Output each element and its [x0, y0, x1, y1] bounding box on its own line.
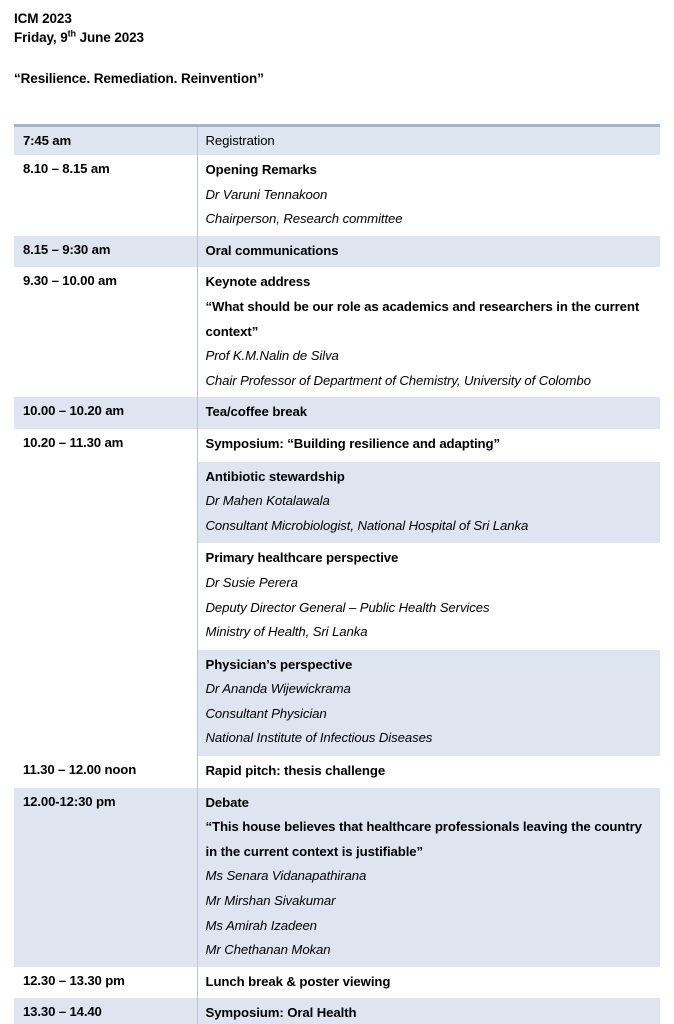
- schedule-detail-cell: Registration: [197, 126, 660, 156]
- schedule-row: 11.30 – 12.00 noonRapid pitch: thesis ch…: [14, 756, 660, 788]
- schedule-detail-cell: Opening RemarksDr Varuni TennakoonChairp…: [197, 155, 660, 236]
- schedule-line: Deputy Director General – Public Health …: [206, 596, 653, 621]
- schedule-time-cell: 9.30 – 10.00 am: [14, 267, 197, 397]
- schedule-line: Dr Varuni Tennakoon: [206, 183, 653, 208]
- schedule-time-cell: 11.30 – 12.00 noon: [14, 756, 197, 788]
- schedule-time-cell: 7:45 am: [14, 126, 197, 156]
- schedule-time-cell: 10.00 – 10.20 am: [14, 397, 197, 429]
- schedule-line: Mr Mirshan Sivakumar: [206, 889, 653, 914]
- schedule-line: Primary healthcare perspective: [206, 546, 653, 571]
- schedule-detail-cell: Lunch break & poster viewing: [197, 967, 660, 999]
- schedule-detail-cell: Symposium: “Building resilience and adap…: [197, 429, 660, 756]
- schedule-body: 7:45 amRegistration8.10 – 8.15 amOpening…: [14, 126, 660, 1024]
- schedule-line: Oral communications: [206, 239, 653, 264]
- schedule-time-cell: 8.10 – 8.15 am: [14, 155, 197, 236]
- schedule-row: 8.15 – 9:30 amOral communications: [14, 236, 660, 268]
- schedule-line: Registration: [206, 130, 653, 151]
- schedule-row: 10.20 – 11.30 amSymposium: “Building res…: [14, 429, 660, 756]
- schedule-line: “This house believes that healthcare pro…: [206, 815, 653, 864]
- event-date: Friday, 9th June 2023: [14, 28, 674, 47]
- schedule-line: Dr Ananda Wijewickrama: [206, 677, 653, 702]
- schedule-subblock: Antibiotic stewardshipDr Mahen Kotalawal…: [198, 462, 661, 544]
- schedule-subblock: Symposium: “Building resilience and adap…: [198, 429, 661, 462]
- schedule-detail-cell: Symposium: Oral HealthIntroduction (5min…: [197, 998, 660, 1024]
- schedule-row: 13.30 – 14.40Symposium: Oral HealthIntro…: [14, 998, 660, 1024]
- event-tagline: “Resilience. Remediation. Reinvention”: [14, 69, 674, 88]
- schedule-line: Physician’s perspective: [206, 653, 653, 678]
- schedule-detail-cell: Rapid pitch: thesis challenge: [197, 756, 660, 788]
- schedule-line: National Institute of Infectious Disease…: [206, 726, 653, 751]
- schedule-detail-cell: Debate“This house believes that healthca…: [197, 788, 660, 967]
- schedule-line: Symposium: Oral Health: [206, 1001, 653, 1024]
- schedule-time-cell: 8.15 – 9:30 am: [14, 236, 197, 268]
- schedule-time-cell: 10.20 – 11.30 am: [14, 429, 197, 756]
- schedule-line: Rapid pitch: thesis challenge: [206, 759, 653, 784]
- schedule-detail-cell: Oral communications: [197, 236, 660, 268]
- schedule-detail-cell: Tea/coffee break: [197, 397, 660, 429]
- schedule-line: Lunch break & poster viewing: [206, 970, 653, 995]
- schedule-line: Consultant Microbiologist, National Hosp…: [206, 514, 653, 539]
- schedule-subblock: Primary healthcare perspectiveDr Susie P…: [198, 543, 661, 649]
- schedule-subblock: Physician’s perspectiveDr Ananda Wijewic…: [198, 650, 661, 756]
- event-date-ordinal: th: [68, 29, 76, 39]
- event-title: ICM 2023: [14, 9, 674, 28]
- schedule-line: Dr Susie Perera: [206, 571, 653, 596]
- schedule-line: Keynote address: [206, 270, 653, 295]
- schedule-time-cell: 12.00-12:30 pm: [14, 788, 197, 967]
- schedule-row: 8.10 – 8.15 amOpening RemarksDr Varuni T…: [14, 155, 660, 236]
- schedule-line: Dr Mahen Kotalawala: [206, 489, 653, 514]
- document-header: ICM 2023 Friday, 9th June 2023 “Resilien…: [0, 0, 674, 88]
- schedule-page: ICM 2023 Friday, 9th June 2023 “Resilien…: [0, 0, 674, 1024]
- schedule-detail-cell: Keynote address“What should be our role …: [197, 267, 660, 397]
- schedule-line: Debate: [206, 791, 653, 816]
- schedule-row: 12.00-12:30 pmDebate“This house believes…: [14, 788, 660, 967]
- schedule-row: 9.30 – 10.00 amKeynote address“What shou…: [14, 267, 660, 397]
- schedule-subblock: Symposium: Oral Health: [198, 998, 661, 1024]
- schedule-line: Chair Professor of Department of Chemist…: [206, 369, 653, 394]
- schedule-table: 7:45 amRegistration8.10 – 8.15 amOpening…: [14, 124, 660, 1024]
- schedule-line: Opening Remarks: [206, 158, 653, 183]
- schedule-line: Tea/coffee break: [206, 400, 653, 425]
- schedule-line: Ms Senara Vidanapathirana: [206, 864, 653, 889]
- schedule-line: Prof K.M.Nalin de Silva: [206, 344, 653, 369]
- schedule-line: Antibiotic stewardship: [206, 465, 653, 490]
- schedule-line: Symposium: “Building resilience and adap…: [206, 432, 653, 457]
- schedule-time-cell: 12.30 – 13.30 pm: [14, 967, 197, 999]
- event-date-suffix: June 2023: [76, 30, 144, 45]
- schedule-line: “What should be our role as academics an…: [206, 295, 653, 344]
- schedule-line: Consultant Physician: [206, 702, 653, 727]
- schedule-line: Mr Chethanan Mokan: [206, 938, 653, 963]
- schedule-line: Ms Amirah Izadeen: [206, 914, 653, 939]
- schedule-time-cell: 13.30 – 14.40: [14, 998, 197, 1024]
- schedule-row: 7:45 amRegistration: [14, 126, 660, 156]
- event-date-prefix: Friday, 9: [14, 30, 68, 45]
- schedule-line: Ministry of Health, Sri Lanka: [206, 620, 653, 645]
- schedule-row: 10.00 – 10.20 amTea/coffee break: [14, 397, 660, 429]
- schedule-row: 12.30 – 13.30 pmLunch break & poster vie…: [14, 967, 660, 999]
- schedule-line: Chairperson, Research committee: [206, 207, 653, 232]
